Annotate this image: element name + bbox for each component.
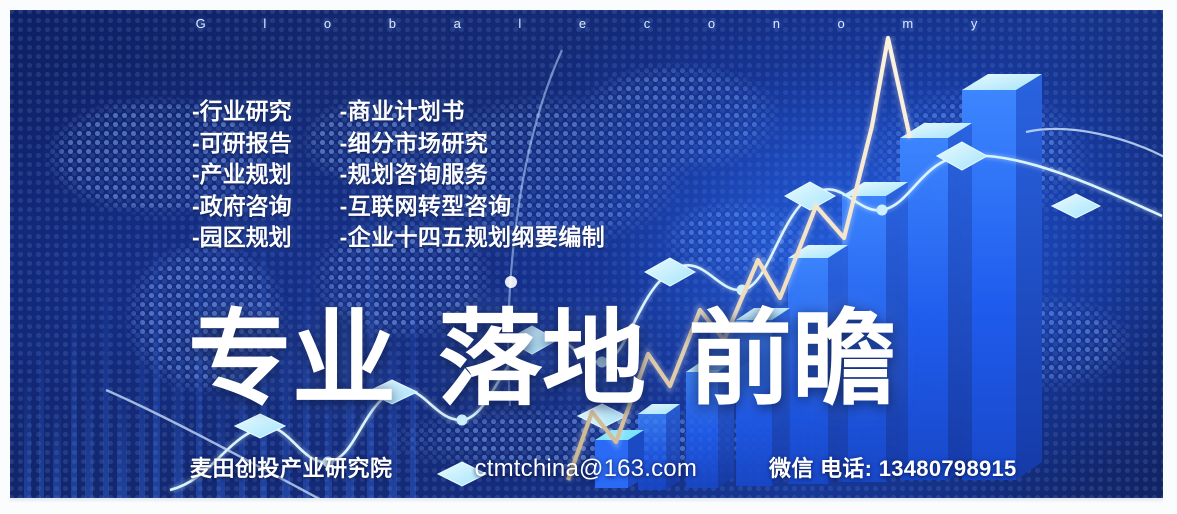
service-item: -政府咨询 — [192, 191, 292, 223]
email-address[interactable]: ctmtchina@163.com — [475, 455, 698, 483]
bar-series — [638, 74, 1042, 490]
chart-illustration — [10, 10, 1163, 498]
service-item: -细分市场研究 — [340, 128, 605, 160]
service-item: -园区规划 — [192, 222, 292, 254]
service-item: -商业计划书 — [340, 96, 605, 128]
page-title: 专业 落地 前瞻 — [188, 306, 896, 414]
services-columns: -行业研究 -可研报告 -产业规划 -政府咨询 -园区规划 -商业计划书 -细分… — [192, 96, 605, 254]
service-item: -规划咨询服务 — [340, 159, 605, 191]
service-item: -产业规划 — [192, 159, 292, 191]
service-item: -企业十四五规划纲要编制 — [340, 222, 605, 254]
headline-word-3: 前瞻 — [688, 306, 896, 414]
contact-phone: 微信 电话: 13480798915 — [769, 451, 1017, 483]
headline-word-1: 专业 — [188, 306, 396, 414]
kicker-global-economy: G l o b a l e c o n o m y — [10, 16, 1163, 31]
service-item: -行业研究 — [192, 96, 292, 128]
promotional-banner: G l o b a l e c o n o m y -行业研究 -可研报告 -产… — [10, 10, 1163, 498]
footer-contact-row: 麦田创投产业研究院 ctmtchina@163.com 微信 电话: 13480… — [190, 451, 1017, 483]
banner-bottom-shadow — [10, 498, 1163, 503]
services-right-column: -商业计划书 -细分市场研究 -规划咨询服务 -互联网转型咨询 -企业十四五规划… — [340, 96, 605, 254]
service-item: -互联网转型咨询 — [340, 191, 605, 223]
right-arc — [1026, 129, 1163, 160]
service-item: -可研报告 — [192, 128, 292, 160]
arc-dot — [505, 276, 517, 288]
organization-name: 麦田创投产业研究院 — [190, 451, 393, 483]
services-left-column: -行业研究 -可研报告 -产业规划 -政府咨询 -园区规划 — [192, 96, 292, 254]
headline-word-2: 落地 — [438, 306, 646, 414]
